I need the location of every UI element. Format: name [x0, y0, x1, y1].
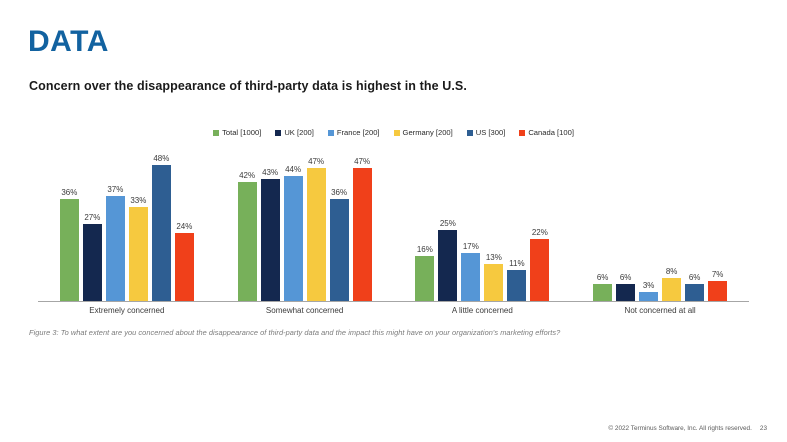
legend-item: US [300]: [467, 128, 506, 137]
bar: [106, 196, 125, 301]
bar-value-label: 17%: [463, 242, 479, 251]
footer-copyright: © 2022 Terminus Software, Inc. All right…: [608, 425, 751, 432]
bar-value-label: 6%: [597, 273, 609, 282]
bar-item: 43%: [261, 146, 280, 301]
legend-label: France [200]: [337, 128, 380, 137]
bar-item: 16%: [415, 146, 434, 301]
bar-item: 24%: [175, 146, 194, 301]
bar-item: 25%: [438, 146, 457, 301]
x-axis-tick-label: Somewhat concerned: [216, 306, 394, 315]
bar-item: 11%: [507, 146, 526, 301]
slide-subtitle: Concern over the disappearance of third-…: [29, 79, 467, 93]
bar-item: 47%: [307, 146, 326, 301]
bar-item: 6%: [685, 146, 704, 301]
x-axis-tick-label: Not concerned at all: [571, 306, 749, 315]
bar-value-label: 27%: [84, 213, 100, 222]
bar: [616, 284, 635, 301]
bar-item: 6%: [593, 146, 612, 301]
bar-item: 47%: [353, 146, 372, 301]
bar-value-label: 16%: [417, 245, 433, 254]
legend-item: France [200]: [328, 128, 380, 137]
x-axis-tick-label: Extremely concerned: [38, 306, 216, 315]
bar-value-label: 13%: [486, 253, 502, 262]
bar-value-label: 47%: [354, 157, 370, 166]
bar-value-label: 25%: [440, 219, 456, 228]
bar-value-label: 36%: [61, 188, 77, 197]
bar-item: 36%: [60, 146, 79, 301]
x-axis-line: [38, 301, 749, 302]
bar-item: 44%: [284, 146, 303, 301]
bar: [484, 264, 503, 301]
x-axis-tick-label: A little concerned: [394, 306, 572, 315]
bar: [438, 230, 457, 301]
bar-value-label: 22%: [532, 228, 548, 237]
chart-legend: Total [1000]UK [200]France [200]Germany …: [0, 128, 787, 137]
legend-swatch-icon: [328, 130, 334, 136]
slide: DATA Concern over the disappearance of t…: [0, 0, 787, 442]
legend-swatch-icon: [275, 130, 281, 136]
bar-item: 17%: [461, 146, 480, 301]
bar-group: 42%43%44%47%36%47%: [216, 146, 394, 301]
bar-item: 13%: [484, 146, 503, 301]
bar: [507, 270, 526, 301]
bar: [662, 278, 681, 301]
legend-item: Total [1000]: [213, 128, 261, 137]
legend-item: Germany [200]: [394, 128, 453, 137]
bar: [708, 281, 727, 301]
bar: [685, 284, 704, 301]
x-axis-tick-labels: Extremely concernedSomewhat concernedA l…: [38, 306, 749, 315]
bar-value-label: 44%: [285, 165, 301, 174]
legend-label: Total [1000]: [222, 128, 261, 137]
bar: [238, 182, 257, 301]
footer-page-number: 23: [760, 425, 767, 432]
bar: [261, 179, 280, 301]
bar-value-label: 33%: [130, 196, 146, 205]
bar-item: 7%: [708, 146, 727, 301]
bar: [152, 165, 171, 301]
bar-value-label: 36%: [331, 188, 347, 197]
bar-item: 37%: [106, 146, 125, 301]
chart-plot-area: 36%27%37%33%48%24%42%43%44%47%36%47%16%2…: [38, 146, 749, 301]
bar-value-label: 3%: [643, 281, 655, 290]
bar-item: 8%: [662, 146, 681, 301]
bar: [175, 233, 194, 301]
figure-caption: Figure 3: To what extent are you concern…: [29, 328, 560, 337]
bar-value-label: 37%: [107, 185, 123, 194]
bar-item: 48%: [152, 146, 171, 301]
legend-item: UK [200]: [275, 128, 314, 137]
legend-label: UK [200]: [284, 128, 314, 137]
bar-value-label: 6%: [620, 273, 632, 282]
bar-item: 27%: [83, 146, 102, 301]
legend-swatch-icon: [394, 130, 400, 136]
bar-value-label: 8%: [666, 267, 678, 276]
bar-value-label: 24%: [176, 222, 192, 231]
bar-item: 6%: [616, 146, 635, 301]
bar-item: 36%: [330, 146, 349, 301]
legend-label: Germany [200]: [403, 128, 453, 137]
bar-item: 42%: [238, 146, 257, 301]
bar: [415, 256, 434, 301]
legend-label: Canada [100]: [528, 128, 574, 137]
bar-group: 6%6%3%8%6%7%: [571, 146, 749, 301]
page-title: DATA: [28, 27, 109, 57]
bar-value-label: 48%: [153, 154, 169, 163]
bar-item: 33%: [129, 146, 148, 301]
bar: [330, 199, 349, 301]
bar: [284, 176, 303, 301]
legend-item: Canada [100]: [519, 128, 574, 137]
bar: [83, 224, 102, 301]
bar-value-label: 7%: [712, 270, 724, 279]
legend-swatch-icon: [467, 130, 473, 136]
bar: [530, 239, 549, 301]
bar-item: 22%: [530, 146, 549, 301]
bar: [593, 284, 612, 301]
bar: [353, 168, 372, 301]
bar-value-label: 47%: [308, 157, 324, 166]
bar: [307, 168, 326, 301]
bar-value-label: 42%: [239, 171, 255, 180]
bar: [461, 253, 480, 301]
bar: [60, 199, 79, 301]
bar: [129, 207, 148, 301]
slide-footer: © 2022 Terminus Software, Inc. All right…: [608, 425, 767, 432]
bar-value-label: 6%: [689, 273, 701, 282]
legend-swatch-icon: [519, 130, 525, 136]
bar: [639, 292, 658, 301]
bar-item: 3%: [639, 146, 658, 301]
legend-label: US [300]: [476, 128, 506, 137]
legend-swatch-icon: [213, 130, 219, 136]
bar-group: 16%25%17%13%11%22%: [394, 146, 572, 301]
bar-group: 36%27%37%33%48%24%: [38, 146, 216, 301]
bar-value-label: 11%: [509, 259, 524, 268]
bar-value-label: 43%: [262, 168, 278, 177]
bar-chart: Total [1000]UK [200]France [200]Germany …: [0, 118, 787, 318]
